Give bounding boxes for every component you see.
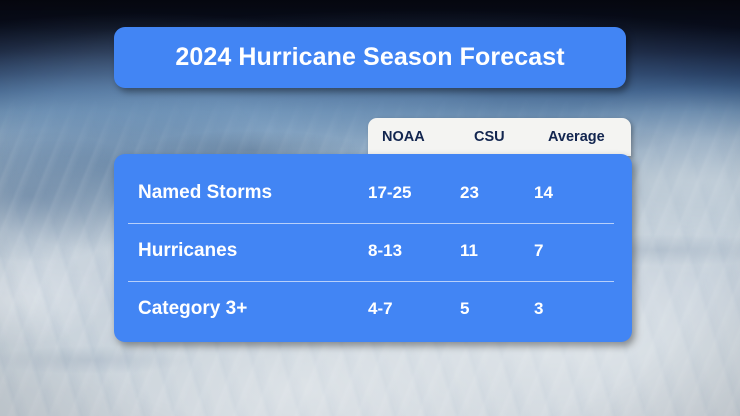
column-header-average: Average xyxy=(548,129,605,145)
cell-named-storms-noaa: 17-25 xyxy=(368,183,460,203)
table-row: Hurricanes 8-13 11 7 xyxy=(114,222,632,280)
cell-hurricanes-noaa: 8-13 xyxy=(368,241,460,261)
forecast-table-card: Named Storms 17-25 23 14 Hurricanes 8-13… xyxy=(114,154,632,342)
page-title: 2024 Hurricane Season Forecast xyxy=(175,43,564,72)
cell-hurricanes-csu: 11 xyxy=(460,241,534,261)
slide-canvas: 2024 Hurricane Season Forecast NOAA CSU … xyxy=(0,0,740,416)
cell-named-storms-csu: 23 xyxy=(460,183,534,203)
table-column-header-panel: NOAA CSU Average xyxy=(368,118,631,156)
cell-category-3-plus-average: 3 xyxy=(534,299,543,319)
row-label-named-storms: Named Storms xyxy=(138,182,368,204)
cell-category-3-plus-csu: 5 xyxy=(460,299,534,319)
column-header-noaa: NOAA xyxy=(382,129,474,145)
cell-hurricanes-average: 7 xyxy=(534,241,543,261)
table-row: Named Storms 17-25 23 14 xyxy=(114,164,632,222)
title-card: 2024 Hurricane Season Forecast xyxy=(114,27,626,88)
column-header-csu: CSU xyxy=(474,129,548,145)
table-row: Category 3+ 4-7 5 3 xyxy=(114,280,632,338)
cell-named-storms-average: 14 xyxy=(534,183,553,203)
row-label-category-3-plus: Category 3+ xyxy=(138,298,368,320)
cell-category-3-plus-noaa: 4-7 xyxy=(368,299,460,319)
row-label-hurricanes: Hurricanes xyxy=(138,240,368,262)
